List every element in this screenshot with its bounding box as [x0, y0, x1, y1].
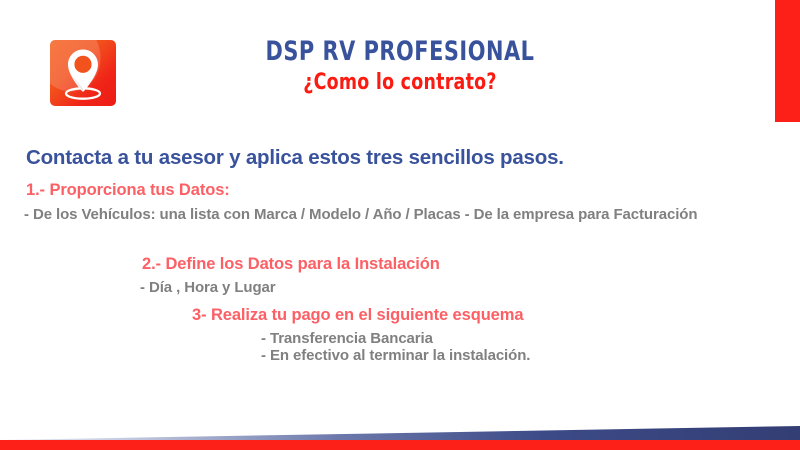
bottom-red-band	[0, 440, 800, 450]
slide: DSP RV PROFESIONAL ¿Como lo contrato? Co…	[0, 0, 800, 450]
step-2-detail: - Día , Hora y Lugar	[140, 279, 276, 296]
step-3-heading: 3- Realiza tu pago en el siguiente esque…	[192, 306, 523, 325]
page-subtitle: ¿Como lo contrato?	[48, 70, 752, 95]
step-1-heading: 1.- Proporciona tus Datos:	[26, 181, 230, 200]
top-right-accent-bar	[775, 0, 800, 122]
bottom-navy-band	[0, 426, 800, 440]
page-title: DSP RV PROFESIONAL	[56, 36, 744, 67]
step-3-detail-1: - Transferencia Bancaria	[261, 330, 433, 347]
step-1-detail: - De los Vehículos: una lista con Marca …	[24, 204, 738, 225]
step-2-heading: 2.- Define los Datos para la Instalación	[142, 255, 440, 274]
step-3-detail-2: - En efectivo al terminar la instalación…	[261, 347, 530, 364]
lead-text: Contacta a tu asesor y aplica estos tres…	[26, 146, 756, 170]
